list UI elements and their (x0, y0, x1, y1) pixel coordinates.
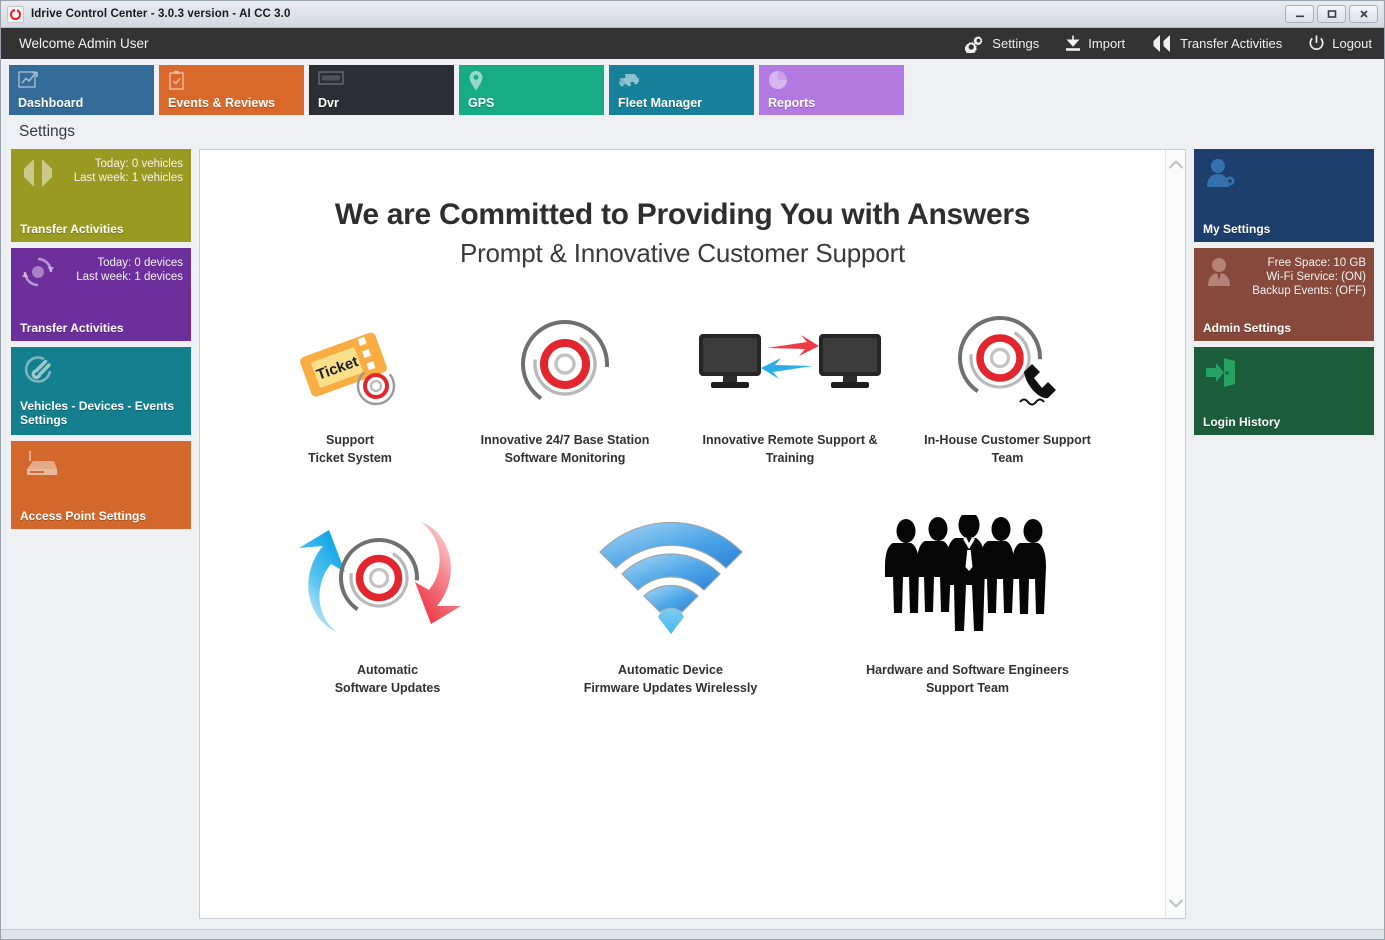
feature-support-ticket-system: Ticket Support Ticket System (250, 309, 450, 467)
feature-remote-support-training: Innovative Remote Support & Training (680, 309, 900, 467)
login-exit-icon (1204, 355, 1238, 387)
feature-automatic-firmware-updates: Automatic Device Firmware Updates Wirele… (521, 509, 821, 697)
feature-caption: Automatic Device Firmware Updates Wirele… (584, 661, 758, 697)
download-icon (1065, 35, 1081, 52)
target-ring-icon (517, 309, 613, 419)
tab-gps[interactable]: GPS (459, 65, 604, 115)
tile-vehicles-devices-events-settings[interactable]: Vehicles - Devices - Events Settings (11, 347, 191, 435)
status-bar (1, 929, 1384, 939)
chart-trend-icon (18, 70, 40, 90)
tab-gps-label: GPS (468, 96, 494, 110)
chevron-down-icon[interactable] (1169, 899, 1183, 908)
target-refresh-arrows-icon (293, 509, 483, 649)
tab-reports[interactable]: Reports (759, 65, 904, 115)
tile-title: Login History (1203, 415, 1280, 429)
header-settings-button[interactable]: Settings (965, 35, 1039, 53)
target-phone-icon (954, 309, 1062, 419)
wifi-signal-icon (596, 509, 746, 649)
tile-transfer-activities-devices[interactable]: Today: 0 devices Last week: 1 devices Tr… (11, 248, 191, 341)
router-icon (21, 449, 61, 481)
feature-caption: In-House Customer Support Team (924, 431, 1091, 467)
title-bar: Idrive Control Center - 3.0.3 version - … (1, 1, 1384, 28)
header-transfer-label: Transfer Activities (1180, 36, 1282, 51)
tile-title: Vehicles - Devices - Events Settings (20, 399, 186, 427)
tab-dashboard[interactable]: Dashboard (9, 65, 154, 115)
page-headline: We are Committed to Providing You with A… (200, 198, 1165, 232)
admin-user-icon (1204, 256, 1238, 288)
power-icon (1308, 35, 1325, 52)
welcome-text: Welcome Admin User (19, 36, 149, 51)
main-content-panel: We are Committed to Providing You with A… (199, 149, 1186, 919)
header-import-button[interactable]: Import (1065, 35, 1125, 52)
tile-title: Admin Settings (1203, 321, 1291, 335)
header-bar: Welcome Admin User Settings (1, 28, 1384, 59)
window-controls (1285, 5, 1380, 23)
tile-access-point-settings[interactable]: Access Point Settings (11, 441, 191, 529)
feature-caption: Automatic Software Updates (335, 661, 441, 697)
target-ring-icon (10, 9, 21, 20)
feature-row-2: Automatic Software Updates (200, 509, 1165, 697)
right-sidebar: My Settings Free Space: 10 GB Wi-Fi Serv… (1194, 149, 1374, 919)
minimize-button[interactable] (1285, 5, 1314, 23)
main-scrollbar[interactable] (1165, 150, 1185, 918)
body-region: Today: 0 vehicles Last week: 1 vehicles … (1, 149, 1384, 929)
page-subheadline: Prompt & Innovative Customer Support (200, 238, 1165, 269)
wrench-icon (21, 355, 57, 389)
feature-automatic-software-updates: Automatic Software Updates (263, 509, 513, 697)
header-settings-label: Settings (992, 36, 1039, 51)
feature-row-1: Ticket Support Ticket System (200, 309, 1165, 467)
feature-caption: Hardware and Software Engineers Support … (866, 661, 1069, 697)
tab-events-reviews-label: Events & Reviews (168, 96, 275, 110)
support-content: We are Committed to Providing You with A… (200, 150, 1165, 918)
tab-events-reviews[interactable]: Events & Reviews (159, 65, 304, 115)
maximize-button[interactable] (1317, 5, 1346, 23)
tab-dvr-label: Dvr (318, 96, 339, 110)
feature-caption: Innovative 24/7 Base Station Software Mo… (481, 431, 650, 467)
dvr-device-icon (318, 70, 344, 86)
clipboard-check-icon (168, 70, 186, 91)
header-actions: Settings Import Transf (965, 35, 1372, 53)
pie-chart-icon (768, 70, 788, 90)
tab-reports-label: Reports (768, 96, 815, 110)
feature-hardware-software-engineers: Hardware and Software Engineers Support … (833, 509, 1103, 697)
feature-in-house-support-team: In-House Customer Support Team (900, 309, 1115, 467)
team-silhouette-icon (873, 509, 1063, 649)
two-monitors-transfer-icon (695, 309, 885, 419)
tab-fleet-manager[interactable]: Fleet Manager (609, 65, 754, 115)
tile-title: Access Point Settings (20, 509, 146, 523)
window-title: Idrive Control Center - 3.0.3 version - … (31, 8, 290, 20)
feature-base-station-monitoring: Innovative 24/7 Base Station Software Mo… (450, 309, 680, 467)
tile-title: My Settings (1203, 222, 1270, 236)
vehicles-icon (618, 70, 644, 88)
support-ticket-icon: Ticket (295, 309, 405, 419)
user-settings-icon (1204, 157, 1238, 189)
feature-caption: Innovative Remote Support & Training (702, 431, 877, 467)
transfer-arrows-icon (21, 157, 55, 189)
page-title: Settings (1, 115, 1384, 149)
tile-my-settings[interactable]: My Settings (1194, 149, 1374, 242)
chevron-up-icon[interactable] (1169, 160, 1183, 169)
tab-dashboard-label: Dashboard (18, 96, 83, 110)
left-sidebar: Today: 0 vehicles Last week: 1 vehicles … (11, 149, 191, 919)
tile-title: Transfer Activities (20, 321, 124, 335)
app-icon (7, 6, 24, 23)
tab-fleet-manager-label: Fleet Manager (618, 96, 702, 110)
transfer-arrows-icon (1151, 35, 1173, 52)
tile-title: Transfer Activities (20, 222, 124, 236)
tile-transfer-activities-vehicles[interactable]: Today: 0 vehicles Last week: 1 vehicles … (11, 149, 191, 242)
tab-dvr[interactable]: Dvr (309, 65, 454, 115)
header-logout-label: Logout (1332, 36, 1372, 51)
device-sync-icon (21, 256, 55, 288)
feature-caption: Support Ticket System (308, 431, 392, 467)
header-transfer-activities-button[interactable]: Transfer Activities (1151, 35, 1282, 52)
module-tab-bar: Dashboard Events & Reviews Dvr (1, 59, 1384, 115)
header-import-label: Import (1088, 36, 1125, 51)
application-window: Idrive Control Center - 3.0.3 version - … (0, 0, 1385, 940)
header-logout-button[interactable]: Logout (1308, 35, 1372, 52)
map-pin-icon (468, 70, 484, 92)
tile-admin-settings[interactable]: Free Space: 10 GB Wi-Fi Service: (ON) Ba… (1194, 248, 1374, 341)
gears-icon (965, 35, 985, 53)
close-button[interactable] (1349, 5, 1378, 23)
tile-login-history[interactable]: Login History (1194, 347, 1374, 435)
